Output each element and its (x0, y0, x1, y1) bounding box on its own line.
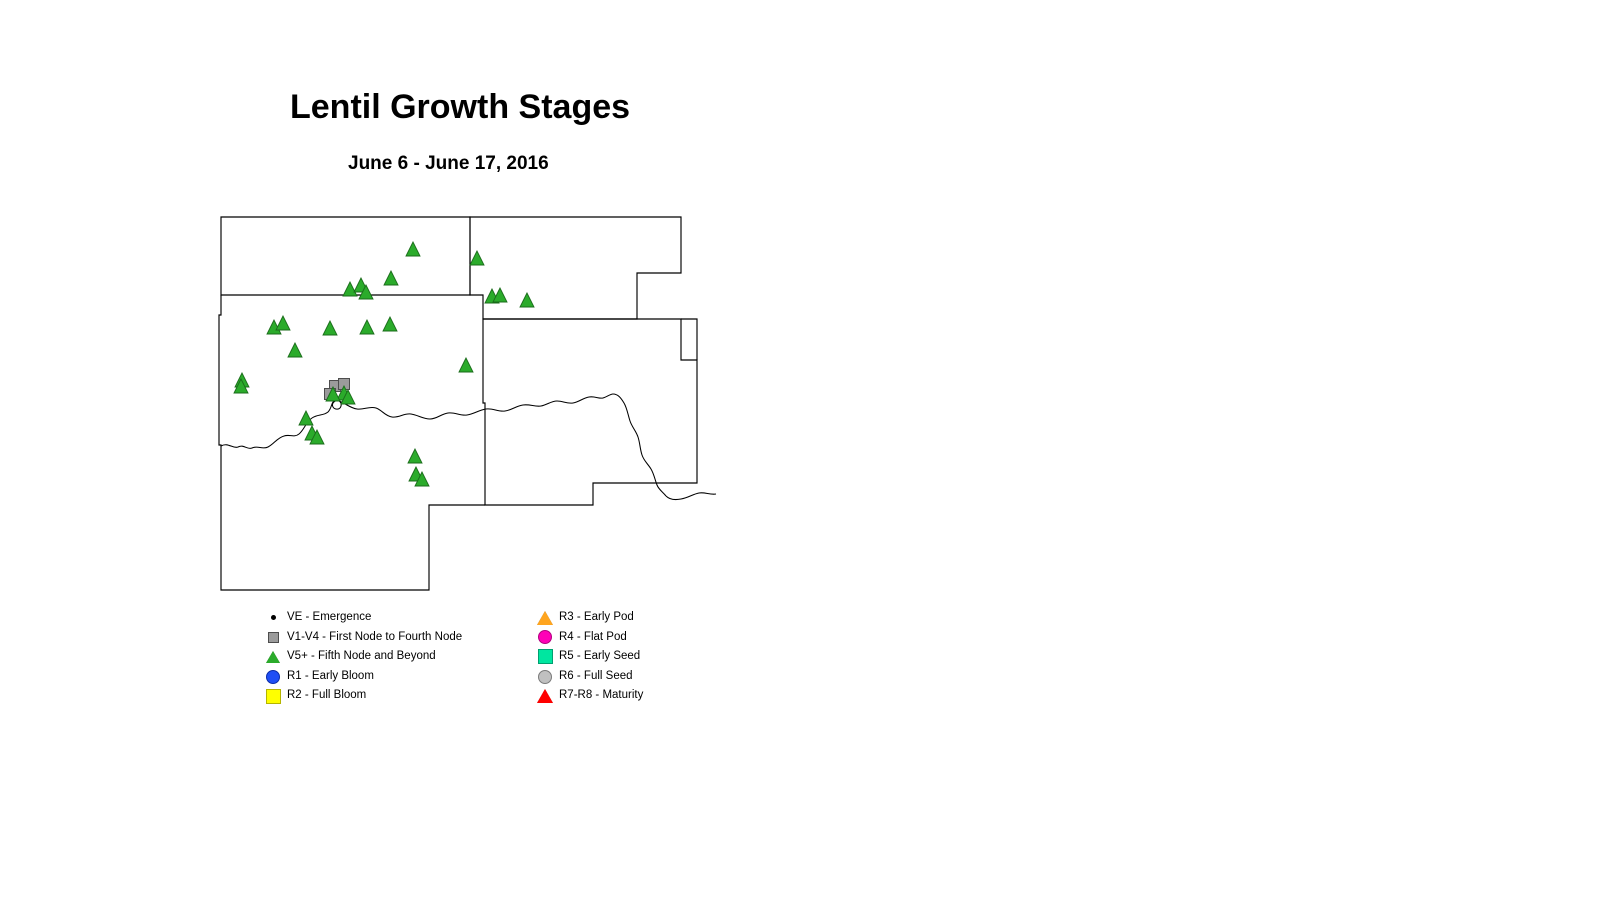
marker-v5plus[interactable] (520, 293, 534, 307)
legend-column-right: R3 - Early Pod R4 - Flat Pod R5 - Early … (534, 608, 643, 706)
legend-item-r4[interactable]: R4 - Flat Pod (534, 628, 643, 648)
map-canvas[interactable] (200, 200, 760, 620)
marker-v5plus[interactable] (470, 251, 484, 265)
legend-column-left: VE - Emergence V1-V4 - First Node to Fou… (262, 608, 462, 706)
v1v4-square-icon (262, 628, 284, 647)
legend: VE - Emergence V1-V4 - First Node to Fou… (262, 608, 682, 718)
legend-item-r1[interactable]: R1 - Early Bloom (262, 667, 462, 687)
legend-item-v1v4[interactable]: V1-V4 - First Node to Fourth Node (262, 628, 462, 648)
boundary-northeast (470, 217, 681, 319)
page-subtitle: June 6 - June 17, 2016 (348, 153, 549, 175)
r6-circle-icon (534, 667, 556, 686)
legend-item-r6[interactable]: R6 - Full Seed (534, 667, 643, 687)
marker-v5plus[interactable] (323, 321, 337, 335)
marker-v5plus[interactable] (343, 282, 357, 296)
legend-item-v5plus[interactable]: V5+ - Fifth Node and Beyond (262, 647, 462, 667)
legend-label: R3 - Early Pod (556, 612, 634, 624)
legend-label: V1-V4 - First Node to Fourth Node (284, 632, 462, 644)
r4-circle-icon (534, 628, 556, 647)
legend-label: VE - Emergence (284, 612, 371, 624)
r3-triangle-icon (534, 608, 556, 627)
legend-item-r3[interactable]: R3 - Early Pod (534, 608, 643, 628)
map-page: Lentil Growth Stages June 6 - June 17, 2… (0, 0, 1612, 900)
map-graphic (200, 200, 760, 620)
marker-v5plus[interactable] (459, 358, 473, 372)
legend-item-ve[interactable]: VE - Emergence (262, 608, 462, 628)
legend-item-r5[interactable]: R5 - Early Seed (534, 647, 643, 667)
boundary-east (483, 319, 697, 505)
marker-v5plus[interactable] (276, 316, 290, 330)
r5-square-icon (534, 647, 556, 666)
legend-label: R5 - Early Seed (556, 651, 640, 663)
markers-v5plus-layer (234, 242, 534, 486)
river-boundary (221, 394, 716, 500)
boundary-west (219, 295, 485, 590)
marker-v5plus[interactable] (408, 449, 422, 463)
v5plus-triangle-icon (262, 647, 284, 666)
legend-label: V5+ - Fifth Node and Beyond (284, 651, 436, 663)
marker-v5plus[interactable] (288, 343, 302, 357)
ve-dot-icon (262, 608, 284, 627)
page-title: Lentil Growth Stages (290, 88, 630, 127)
legend-label: R6 - Full Seed (556, 671, 633, 683)
boundary-outlines (219, 217, 697, 590)
marker-v5plus[interactable] (384, 271, 398, 285)
marker-v5plus[interactable] (299, 411, 313, 425)
r2-square-icon (262, 687, 284, 706)
r1-circle-icon (262, 667, 284, 686)
marker-v5plus[interactable] (360, 320, 374, 334)
boundary-northwest (221, 217, 470, 295)
legend-item-r7r8[interactable]: R7-R8 - Maturity (534, 686, 643, 706)
marker-v5plus[interactable] (383, 317, 397, 331)
marker-v5plus[interactable] (406, 242, 420, 256)
legend-label: R2 - Full Bloom (284, 690, 366, 702)
legend-label: R4 - Flat Pod (556, 632, 627, 644)
r7r8-triangle-icon (534, 687, 556, 706)
legend-label: R7-R8 - Maturity (556, 690, 643, 702)
boundary-east-step (681, 319, 697, 360)
legend-label: R1 - Early Bloom (284, 671, 374, 683)
legend-item-r2[interactable]: R2 - Full Bloom (262, 686, 462, 706)
